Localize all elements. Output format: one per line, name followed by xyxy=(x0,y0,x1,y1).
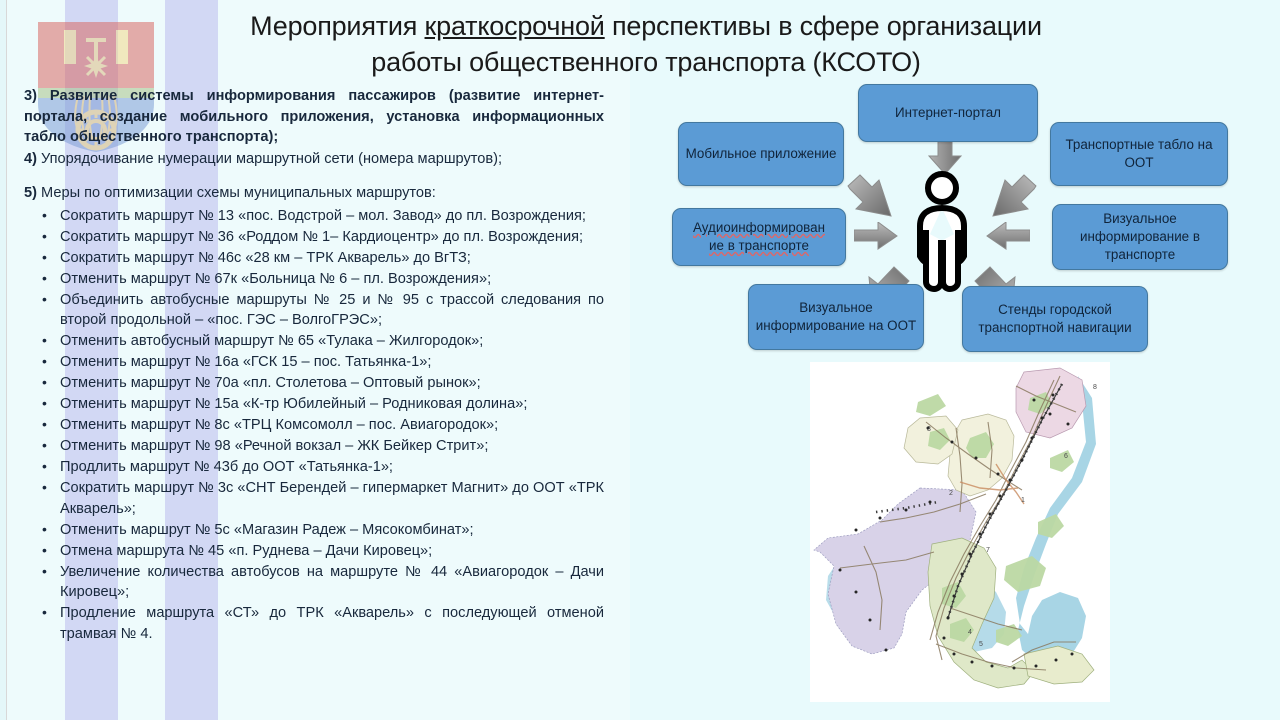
passenger-information-diagram: Интернет-портал Мобильное приложение Тра… xyxy=(650,78,1280,368)
passenger-person-icon xyxy=(906,170,978,292)
map-district-label: 3 xyxy=(927,426,931,433)
list-item: Отменить маршрут № 70а «пл. Столетова – … xyxy=(24,373,604,394)
arrow-right-icon xyxy=(854,222,898,250)
map-image: 1 2 3 4 5 6 7 8 xyxy=(810,362,1110,702)
item-3-text: 3) Развитие системы информирования пасса… xyxy=(24,88,604,145)
arrow-down-left-icon xyxy=(990,174,1038,218)
list-item: Отменить маршрут № 67к «Больница № 6 – п… xyxy=(24,269,604,290)
diagram-box-audio-information[interactable]: Аудиоинформирован ие в транспорте xyxy=(672,208,846,266)
title-line1-underlined: краткосрочной xyxy=(425,11,605,41)
title-line1-suffix: перспективы в сфере организации xyxy=(605,11,1042,41)
diagram-box-internet-portal[interactable]: Интернет-портал xyxy=(858,84,1038,142)
map-district-label: 5 xyxy=(979,641,983,648)
list-item: Объединить автобусные маршруты № 25 и № … xyxy=(24,290,604,331)
list-item: Увеличение количества автобусов на маршр… xyxy=(24,562,604,603)
list-item: Отменить маршрут № 8с «ТРЦ Комсомолл – п… xyxy=(24,415,604,436)
item-3-paragraph: 3) Развитие системы информирования пасса… xyxy=(24,86,604,148)
background-left-edge xyxy=(0,0,7,720)
diagram-box-navigation-stands[interactable]: Стенды городской транспортной навигации xyxy=(962,286,1148,352)
item-5-number: 5) xyxy=(24,185,37,201)
title-line1-prefix: Мероприятия xyxy=(250,11,424,41)
list-item: Продлить маршрут № 43б до ООТ «Татьянка-… xyxy=(24,457,604,478)
list-item: Продление маршрута «СТ» до ТРК «Акварель… xyxy=(24,603,604,644)
map-district-label: 7 xyxy=(986,547,990,554)
diagram-box-visual-info-transport[interactable]: Визуальное информирование в транспорте xyxy=(1052,204,1228,270)
list-item: Сократить маршрут № 46с «28 км – ТРК Акв… xyxy=(24,248,604,269)
list-item: Сократить маршрут № 13 «пос. Водстрой – … xyxy=(24,206,604,227)
list-item: Сократить маршрут № 3с «СНТ Берендей – г… xyxy=(24,478,604,519)
section-spacer xyxy=(24,170,604,183)
list-item: Отмена маршрута № 45 «п. Руднева – Дачи … xyxy=(24,541,604,562)
list-item: Отменить маршрут № 16а «ГСК 15 – пос. Та… xyxy=(24,352,604,373)
list-item: Отменить маршрут № 15а «К-тр Юбилейный –… xyxy=(24,394,604,415)
diagram-box-visual-info-stops[interactable]: Визуальное информирование на ООТ xyxy=(748,284,924,350)
title-line2: работы общественного транспорта (КСОТО) xyxy=(371,47,920,77)
arrow-left-icon xyxy=(986,222,1030,250)
diagram-box-label-line2: ие в транспорте xyxy=(709,238,809,253)
item-5-heading: 5) Меры по оптимизации схемы муниципальн… xyxy=(24,183,604,204)
item-5-text: Меры по оптимизации схемы муниципальных … xyxy=(37,185,436,201)
measures-text-column: 3) Развитие системы информирования пасса… xyxy=(24,86,604,645)
diagram-box-label: Стенды городской транспортной навигации xyxy=(969,301,1141,337)
diagram-box-label: Интернет-портал xyxy=(895,104,1001,122)
diagram-box-label: Мобильное приложение xyxy=(686,145,837,163)
map-district-label: 6 xyxy=(1064,453,1068,460)
map-district-label: 4 xyxy=(968,629,972,636)
list-item: Отменить автобусный маршрут № 65 «Тулака… xyxy=(24,331,604,352)
diagram-box-transport-displays[interactable]: Транспортные табло на ООТ xyxy=(1050,122,1228,186)
item-4-paragraph: 4) Упорядочивание нумерации маршрутной с… xyxy=(24,149,604,170)
item-4-number: 4) xyxy=(24,151,37,167)
map-district-label: 1 xyxy=(1021,497,1025,504)
diagram-box-label-line1: Аудиоинформирован xyxy=(693,220,825,235)
diagram-box-label: Транспортные табло на ООТ xyxy=(1057,136,1221,172)
diagram-box-label: Визуальное информирование в транспорте xyxy=(1059,210,1221,264)
list-item: Сократить маршрут № 36 «Роддом № 1– Кард… xyxy=(24,227,604,248)
page-title: Мероприятия краткосрочной перспективы в … xyxy=(196,8,1096,80)
arrow-down-right-icon xyxy=(846,174,894,218)
map-district-label: 2 xyxy=(949,490,953,497)
map-district-label: 8 xyxy=(1093,384,1097,391)
volgograd-districts-map[interactable]: 1 2 3 4 5 6 7 8 xyxy=(810,362,1110,702)
item-4-text: Упорядочивание нумерации маршрутной сети… xyxy=(37,151,502,167)
list-item: Отменить маршрут № 98 «Речной вокзал – Ж… xyxy=(24,436,604,457)
diagram-box-mobile-app[interactable]: Мобильное приложение xyxy=(678,122,844,186)
list-item: Отменить маршрут № 5с «Магазин Радеж – М… xyxy=(24,520,604,541)
diagram-box-label: Визуальное информирование на ООТ xyxy=(755,299,917,335)
measures-list: Сократить маршрут № 13 «пос. Водстрой – … xyxy=(24,206,604,645)
